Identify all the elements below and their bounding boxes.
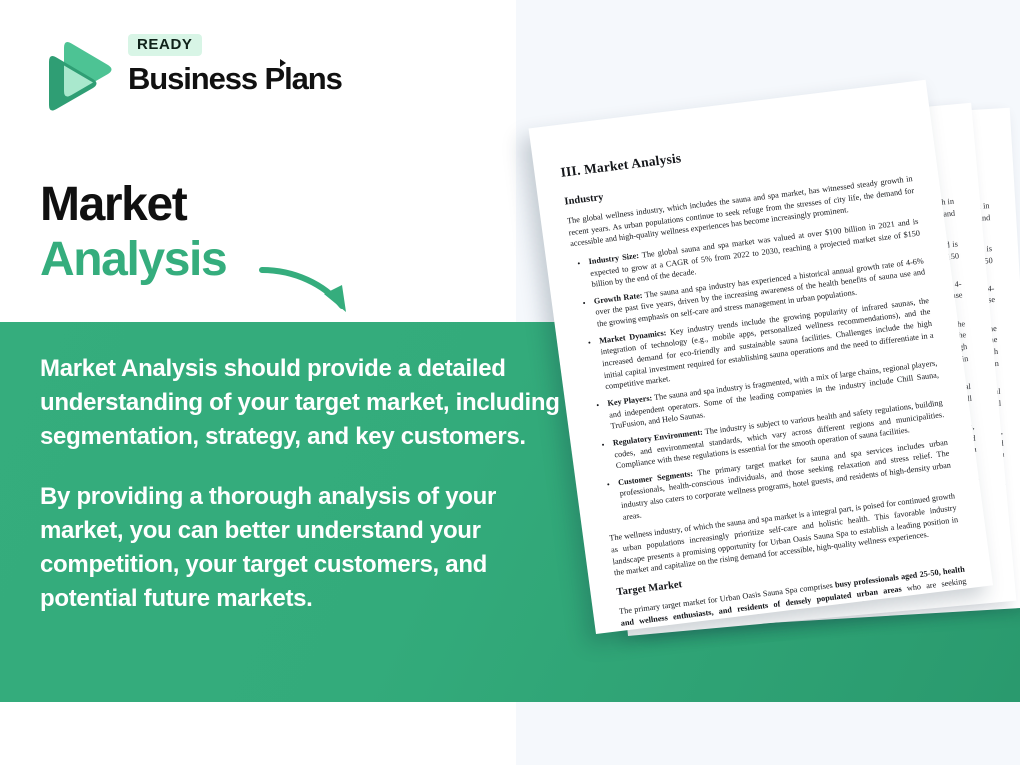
- document-stack: III. Market Analysis Industry The global…: [500, 100, 1020, 700]
- description-block: Market Analysis should provide a detaile…: [40, 352, 560, 617]
- play-triangle-logo-icon: [40, 36, 116, 116]
- page-title-line-1: Market: [40, 178, 226, 233]
- document-page-front: III. Market Analysis Industry The global…: [529, 80, 993, 634]
- brand-logo[interactable]: READY Business Plans: [40, 34, 370, 120]
- doc-industry-bullets: Industry Size: The global sauna and spa …: [572, 216, 953, 525]
- description-paragraph-1: Market Analysis should provide a detaile…: [40, 352, 560, 454]
- curved-arrow-down-right-icon: [258, 258, 368, 324]
- brand-wordmark: Business Plans: [128, 63, 368, 96]
- brand-wordmark-text: Business Plans: [128, 61, 342, 96]
- description-paragraph-2: By providing a thorough analysis of your…: [40, 480, 560, 616]
- page-title-line-2: Analysis: [40, 233, 226, 288]
- slide-root: III. Market Analysis Industry The global…: [0, 0, 1020, 765]
- ready-badge: READY: [128, 34, 202, 56]
- page-title: Market Analysis: [40, 178, 226, 287]
- small-play-triangle-icon: [280, 59, 286, 67]
- brand-wordmark-group: READY Business Plans: [128, 34, 368, 96]
- doc-title: III. Market Analysis: [560, 123, 908, 181]
